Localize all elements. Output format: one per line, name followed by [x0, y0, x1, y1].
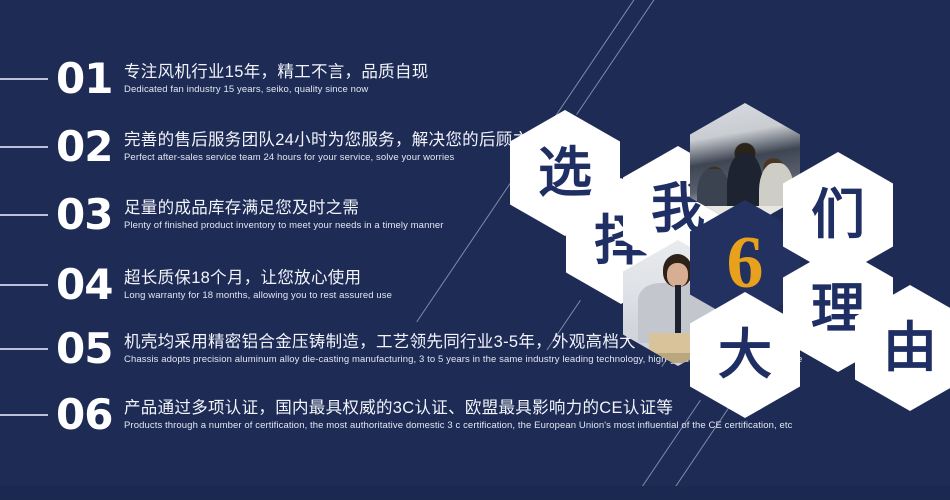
reason-item-01[interactable]: 01 专注风机行业15年，精工不言，品质自现 Dedicated fan ind…: [0, 52, 429, 106]
reason-subline-en: Perfect after-sales service team 24 hour…: [124, 152, 546, 164]
reason-number: 05: [56, 328, 122, 370]
reason-item-03[interactable]: 03 足量的成品库存满足您及时之需 Plenty of finished pro…: [0, 188, 443, 242]
leader-dash-icon: [0, 214, 48, 216]
reason-headline-cn: 超长质保18个月，让您放心使用: [124, 268, 392, 288]
hex-char-you: 由: [883, 321, 937, 375]
leader-dash-icon: [0, 284, 48, 286]
leader-dash-icon: [0, 78, 48, 80]
leader-dash-icon: [0, 146, 48, 148]
reason-item-06[interactable]: 06 产品通过多项认证，国内最具权威的3C认证、欧盟最具影响力的CE认证等 Pr…: [0, 388, 792, 442]
reason-headline-cn: 完善的售后服务团队24小时为您服务，解决您的后顾之忧: [124, 130, 546, 150]
leader-dash-icon: [0, 414, 48, 416]
banner-canvas: 01 专注风机行业15年，精工不言，品质自现 Dedicated fan ind…: [0, 0, 950, 500]
reason-subline-en: Dedicated fan industry 15 years, seiko, …: [124, 84, 429, 96]
reason-headline-cn: 产品通过多项认证，国内最具权威的3C认证、欧盟最具影响力的CE认证等: [124, 398, 792, 418]
hex-char-da: 大: [718, 328, 772, 382]
reason-subline-en: Plenty of finished product inventory to …: [124, 220, 443, 232]
reason-item-02[interactable]: 02 完善的售后服务团队24小时为您服务，解决您的后顾之忧 Perfect af…: [0, 120, 546, 174]
reason-subline-en: Long warranty for 18 months, allowing yo…: [124, 290, 392, 302]
reason-number: 01: [56, 58, 122, 100]
reason-text-group: 专注风机行业15年，精工不言，品质自现 Dedicated fan indust…: [124, 62, 429, 96]
reason-number: 06: [56, 394, 122, 436]
hex-char-six: 6: [727, 226, 764, 300]
hex-char-men: 们: [811, 188, 865, 242]
reason-headline-cn: 足量的成品库存满足您及时之需: [124, 198, 443, 218]
photo-shape-tie: [675, 285, 682, 333]
photo-shape-face: [667, 263, 688, 287]
reason-headline-cn: 专注风机行业15年，精工不言，品质自现: [124, 62, 429, 82]
reason-number: 04: [56, 264, 122, 306]
reason-text-group: 超长质保18个月，让您放心使用 Long warranty for 18 mon…: [124, 268, 392, 302]
reason-number: 03: [56, 194, 122, 236]
reason-number: 02: [56, 126, 122, 168]
reason-text-group: 完善的售后服务团队24小时为您服务，解决您的后顾之忧 Perfect after…: [124, 130, 546, 164]
reason-text-group: 产品通过多项认证，国内最具权威的3C认证、欧盟最具影响力的CE认证等 Produ…: [124, 398, 792, 432]
reason-subline-en: Products through a number of certificati…: [124, 420, 792, 432]
reason-text-group: 足量的成品库存满足您及时之需 Plenty of finished produc…: [124, 198, 443, 232]
reason-item-04[interactable]: 04 超长质保18个月，让您放心使用 Long warranty for 18 …: [0, 258, 392, 312]
leader-dash-icon: [0, 348, 48, 350]
hex-char-xuan: 选: [538, 146, 592, 200]
